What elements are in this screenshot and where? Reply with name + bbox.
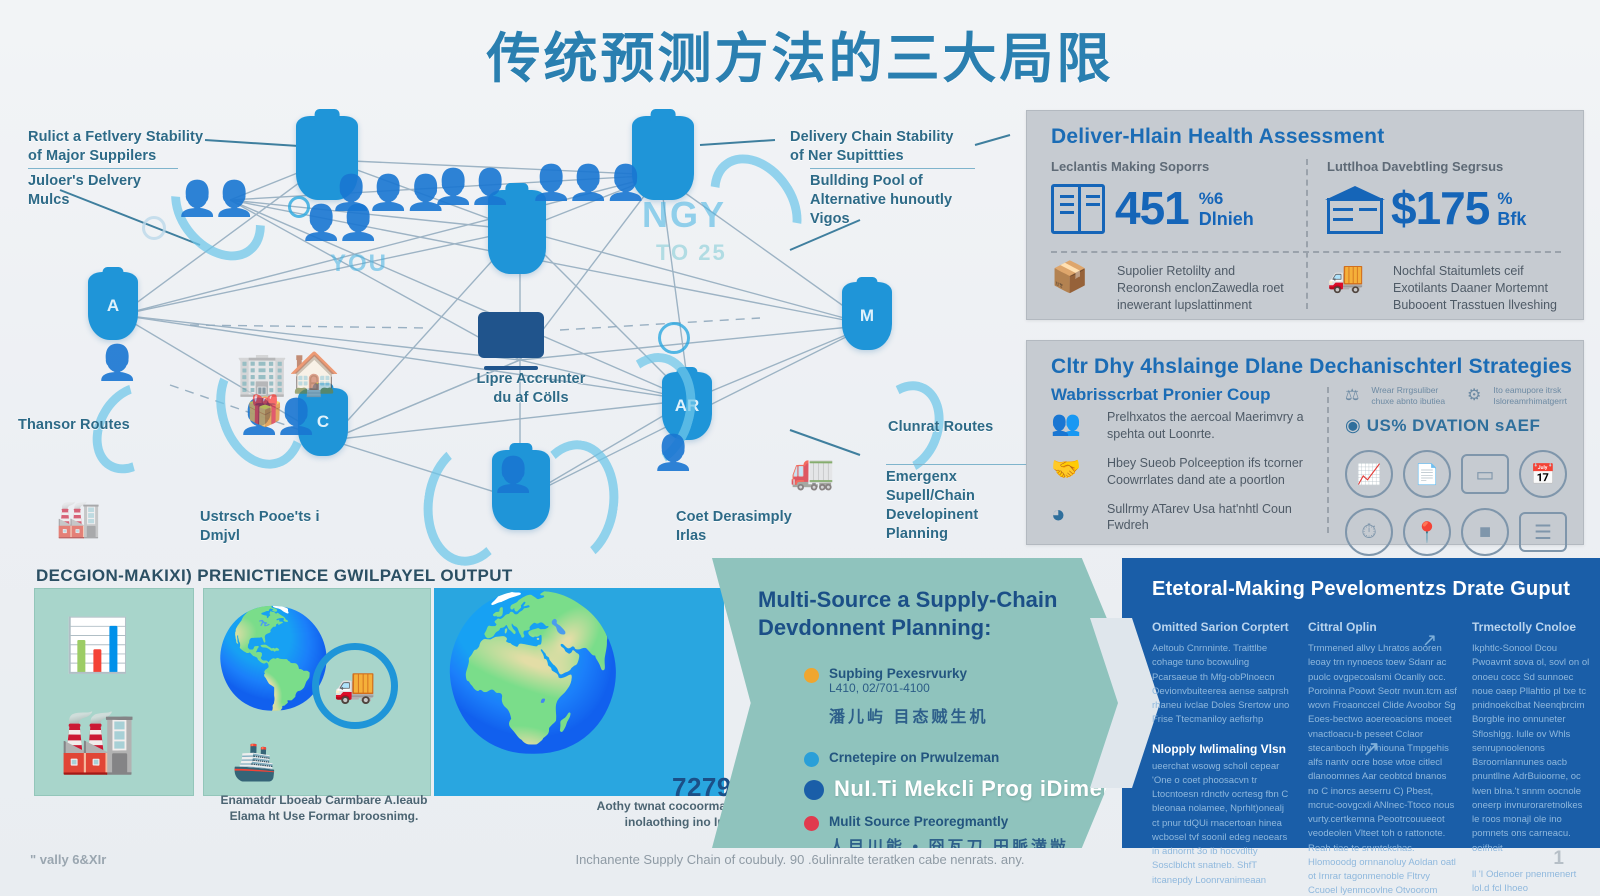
label-emergency-planning: Emergenx Supell/Chain Developinent Plann… bbox=[886, 464, 1026, 545]
chevron-title: Multi-Source a Supply-Chain Devdonnent P… bbox=[758, 586, 1058, 641]
label-transport-routes: Thansor Routes bbox=[18, 416, 188, 435]
location-icon[interactable]: 📍 bbox=[1403, 508, 1451, 556]
bullet-dot-5 bbox=[804, 874, 819, 889]
chevron-bullet-4[interactable]: Mulit Source Preoregmantly 人目川能 • 冏瓦刀 田脈… bbox=[804, 814, 1094, 857]
slide-root: 传统预测方法的三大局限 bbox=[0, 0, 1600, 896]
bullet-dot-3 bbox=[804, 780, 824, 800]
document-icon[interactable]: 📄 bbox=[1403, 450, 1451, 498]
bottom-card-global-map: 🌍 bbox=[434, 588, 724, 796]
health-left-stat-unit: Dlnieh bbox=[1199, 209, 1254, 230]
logistics-icon: 📦 bbox=[1051, 263, 1105, 303]
vehicle-icon: 🚚 bbox=[1327, 263, 1381, 303]
node-glyph-left: A bbox=[107, 296, 119, 316]
panel-strategies-vertical-divider bbox=[1327, 387, 1329, 533]
footer-center-text: Inchanente Supply Chain of coubuly. 90 .… bbox=[0, 852, 1600, 867]
label-delivery-chain-stability: Delivery Chain Stability of Ner Supittti… bbox=[790, 128, 970, 166]
health-right-note: Nochfal Staitumlets ceif Exotilants Daan… bbox=[1393, 263, 1568, 314]
gauge-icon[interactable]: ⏱ bbox=[1345, 508, 1393, 556]
people-cluster-e: 👤👤 bbox=[300, 206, 375, 240]
chevron-bullet-5[interactable]: Pugleationtz Prertucation 锄凶欣, 弓羔止胍冂沭 bbox=[804, 872, 1094, 896]
health-left-note: Supolier Retolilty and Reoronsh enclonZa… bbox=[1117, 263, 1292, 314]
panel-multi-source-planning: Multi-Source a Supply-Chain Devdonnent P… bbox=[712, 558, 1142, 848]
health-right-stat-value: $175 bbox=[1391, 187, 1489, 231]
health-left-stat-pct: %6 bbox=[1199, 189, 1224, 208]
truck-circle-icon[interactable]: 🚚 bbox=[312, 643, 398, 729]
panel-supply-chain-health: Deliver-Hlain Health Assessment Leclanti… bbox=[1026, 110, 1584, 320]
strategy-item-3: Sullrmy ATarev Usa hat'nhtl Coun Fwdreh bbox=[1107, 501, 1307, 535]
bar-chart-icon: 📊 bbox=[65, 615, 130, 676]
gear-icon bbox=[658, 322, 690, 354]
strategies-right-banner: US% DVATION sAEF bbox=[1367, 416, 1541, 436]
bottom-left-section-title: DECGION-MAKIXI) PRENICTIENCE GWILPAYEL O… bbox=[36, 566, 513, 586]
health-left-stat-value: 451 bbox=[1115, 187, 1189, 231]
target-icon bbox=[288, 196, 310, 218]
dark-col3-bullet-1: ll 'I Odenoer pnenmenert lol.d fcl Ihoeo bbox=[1472, 868, 1592, 896]
delivery-truck-icon bbox=[478, 312, 544, 358]
people-cluster-i: 👤 bbox=[96, 346, 133, 380]
warehouse-icon bbox=[1327, 184, 1383, 234]
watermark-you: YOU bbox=[330, 250, 388, 278]
people-cluster-a: 👤👤 bbox=[176, 182, 251, 216]
warehouse-icon-right: 🚛 bbox=[790, 450, 835, 492]
page-number: 1 bbox=[1553, 848, 1564, 870]
label-delivery-mulcs: Juloer's Delvery Mulcs bbox=[28, 168, 178, 210]
health-right-stat-pct: % bbox=[1497, 189, 1512, 208]
bullet-dot-1 bbox=[804, 668, 819, 683]
dark-col3-heading: Trmectolly Cnoloe bbox=[1472, 620, 1592, 634]
window-icon[interactable]: ▭ bbox=[1461, 454, 1509, 494]
strategies-micro-label-1: Wrear Rrrgsuliber chuxe abnto ibutiea bbox=[1371, 385, 1453, 407]
dark-col1-body: Aeltoub Cnrnninte. Traittlbe cohage tuno… bbox=[1152, 642, 1292, 728]
dark-col1-subheading: Nlopply Iwlimaling Vlsn bbox=[1152, 742, 1292, 756]
label-supplier-stability: Rulict a Fetlvery Stability of Major Sup… bbox=[28, 128, 208, 166]
list-icon[interactable]: ☰ bbox=[1519, 512, 1567, 552]
people-group-icon: 👥 bbox=[1051, 409, 1095, 438]
bottom-card-analytics: 📊 🏭 bbox=[34, 588, 194, 796]
strategies-micro-label-2: Ito eamupore itrsk Isloreamrhimatgerrt bbox=[1493, 385, 1575, 407]
globe-icon: ◉ bbox=[1345, 415, 1361, 436]
battery-icon[interactable]: ■ bbox=[1461, 508, 1509, 556]
bullet-dot-4 bbox=[804, 816, 819, 831]
label-center-accounter: Lipre Accrunter du af Cölls bbox=[466, 370, 596, 408]
people-cluster-d: 👤👤👤 bbox=[530, 166, 642, 200]
dark-col3-body: Ikphtlc-Sonool Dcou Pwoavmt sova ol, sov… bbox=[1472, 642, 1592, 856]
health-right-stat-unit: Bfk bbox=[1497, 209, 1526, 230]
dark-col1-subbody: ueerchat wsowg scholl cepear 'One o coet… bbox=[1152, 760, 1292, 888]
network-node-left[interactable]: A bbox=[88, 272, 138, 340]
people-cluster-h: 👤 bbox=[652, 436, 689, 470]
pie-chart-icon: ◕ bbox=[1051, 501, 1095, 529]
building-icon-cluster: 🏢🏠 bbox=[236, 350, 341, 399]
network-nodes-icon: ⚙ bbox=[1467, 385, 1481, 405]
parcel-icon: 🎁 bbox=[246, 394, 283, 429]
world-map-light-icon: 🌍 bbox=[440, 596, 627, 746]
bullet-5-head: Pugleationtz Prertucation bbox=[829, 872, 1015, 887]
bullet-4-head: Mulit Source Preoregmantly bbox=[829, 814, 1069, 829]
label-current-routes: Clunrat Routes bbox=[888, 418, 1018, 437]
dark-col1-heading: Omitted Sarion Corptert bbox=[1152, 620, 1292, 634]
circle-accent-icon bbox=[142, 216, 166, 240]
chart-icon[interactable]: 📈 bbox=[1345, 450, 1393, 498]
scales-icon: ⚖ bbox=[1345, 385, 1359, 405]
panel-decision-output: Etetoral-Making Pevelomentzs Drate Guput… bbox=[1122, 558, 1600, 848]
dark-panel-title: Etetoral-Making Pevelomentzs Drate Guput bbox=[1152, 578, 1600, 601]
label-alternative-pool: Bullding Pool of Alternative hunoutly Vi… bbox=[810, 168, 975, 229]
bottom-left-caption: Enamatdr Lboeab Carmbare A.Ieaub Elama h… bbox=[204, 792, 444, 824]
factory-icon-left: 🏭 bbox=[56, 498, 101, 540]
trend-arrow-icon: ↗ bbox=[1362, 736, 1380, 762]
watermark-ngy: NGY bbox=[642, 194, 726, 236]
health-right-subtitle: Luttlhoa Davebtling Segrsus bbox=[1327, 159, 1577, 174]
bullet-dot-2 bbox=[804, 752, 819, 767]
ship-icon: 🚢 bbox=[232, 741, 277, 783]
bullet-2-head: Crnetepire on Prwulzeman bbox=[829, 750, 999, 765]
label-outreach-points: Ustrsch Pooe'ts i Dmjvl bbox=[200, 508, 350, 546]
handshake-icon: 🤝 bbox=[1051, 455, 1095, 484]
strategy-item-2: Hbey Sueob Polceeption ifs tcorner Coowr… bbox=[1107, 455, 1307, 489]
bullet-1-cn: 潘儿屿 目态贼生机 bbox=[829, 703, 988, 727]
bullet-1-sub: L410, 02/701-4100 bbox=[829, 681, 988, 695]
supply-chain-network-diagram: A M AR C 👤👤 👤👤👤 👤👤 👤👤👤 👤👤 👤👤 👤 👤 👤 bbox=[0, 100, 1020, 555]
page-title: 传统预测方法的三大局限 bbox=[0, 14, 1600, 93]
health-left-subtitle: Leclantis Making Soporrs bbox=[1051, 159, 1301, 174]
panel-strategies: Cltr Dhy 4hslainge Dlane Dechanischterl … bbox=[1026, 340, 1584, 545]
trend-arrow-icon-2: ↗ bbox=[1422, 630, 1437, 651]
bullet-5-cn: 锄凶欣, 弓羔止胍冂沭 bbox=[829, 891, 1015, 896]
panel-strategies-title: Cltr Dhy 4hslainge Dlane Dechanischterl … bbox=[1051, 355, 1583, 379]
panel-health-title: Deliver-Hlain Health Assessment bbox=[1051, 125, 1583, 149]
node-glyph-mid-left: C bbox=[317, 412, 329, 432]
node-glyph-right: M bbox=[860, 306, 874, 326]
calendar-icon[interactable]: 📅 bbox=[1519, 450, 1567, 498]
watermark-to25: TO 25 bbox=[656, 240, 727, 266]
panel-health-horizontal-divider bbox=[1051, 251, 1561, 253]
bullet-3-banner: NuI.Ti Mekcli Prog iDimet bbox=[834, 776, 1110, 802]
dark-column-1: Omitted Sarion Corptert Aeltoub Cnrnnint… bbox=[1152, 620, 1292, 888]
chevron-bullet-1[interactable]: Supbing Pexesrvurky L410, 02/701-4100 潘儿… bbox=[804, 666, 1094, 727]
label-cost-reassembly: Coet Derasimply Irlas bbox=[676, 508, 806, 546]
strategy-item-1: Prelhxatos the aercoal Maerimvry a speht… bbox=[1107, 409, 1307, 443]
report-icon bbox=[1051, 184, 1105, 234]
network-node-right[interactable]: M bbox=[842, 282, 892, 350]
chevron-bullet-2[interactable]: Crnetepire on Prwulzeman bbox=[804, 750, 1094, 767]
people-cluster-g: 👤 bbox=[492, 458, 529, 492]
people-cluster-c: 👤👤 bbox=[432, 170, 507, 204]
bottom-card-world-logistics: 🌎 🚚 🚢 bbox=[203, 588, 431, 796]
bullet-1-head: Supbing Pexesrvurky bbox=[829, 666, 988, 681]
strategies-left-heading: Wabrisscrbat Pronier Coup bbox=[1051, 385, 1316, 405]
factory-icon: 🏭 bbox=[59, 705, 136, 778]
panel-health-vertical-divider bbox=[1306, 159, 1308, 309]
